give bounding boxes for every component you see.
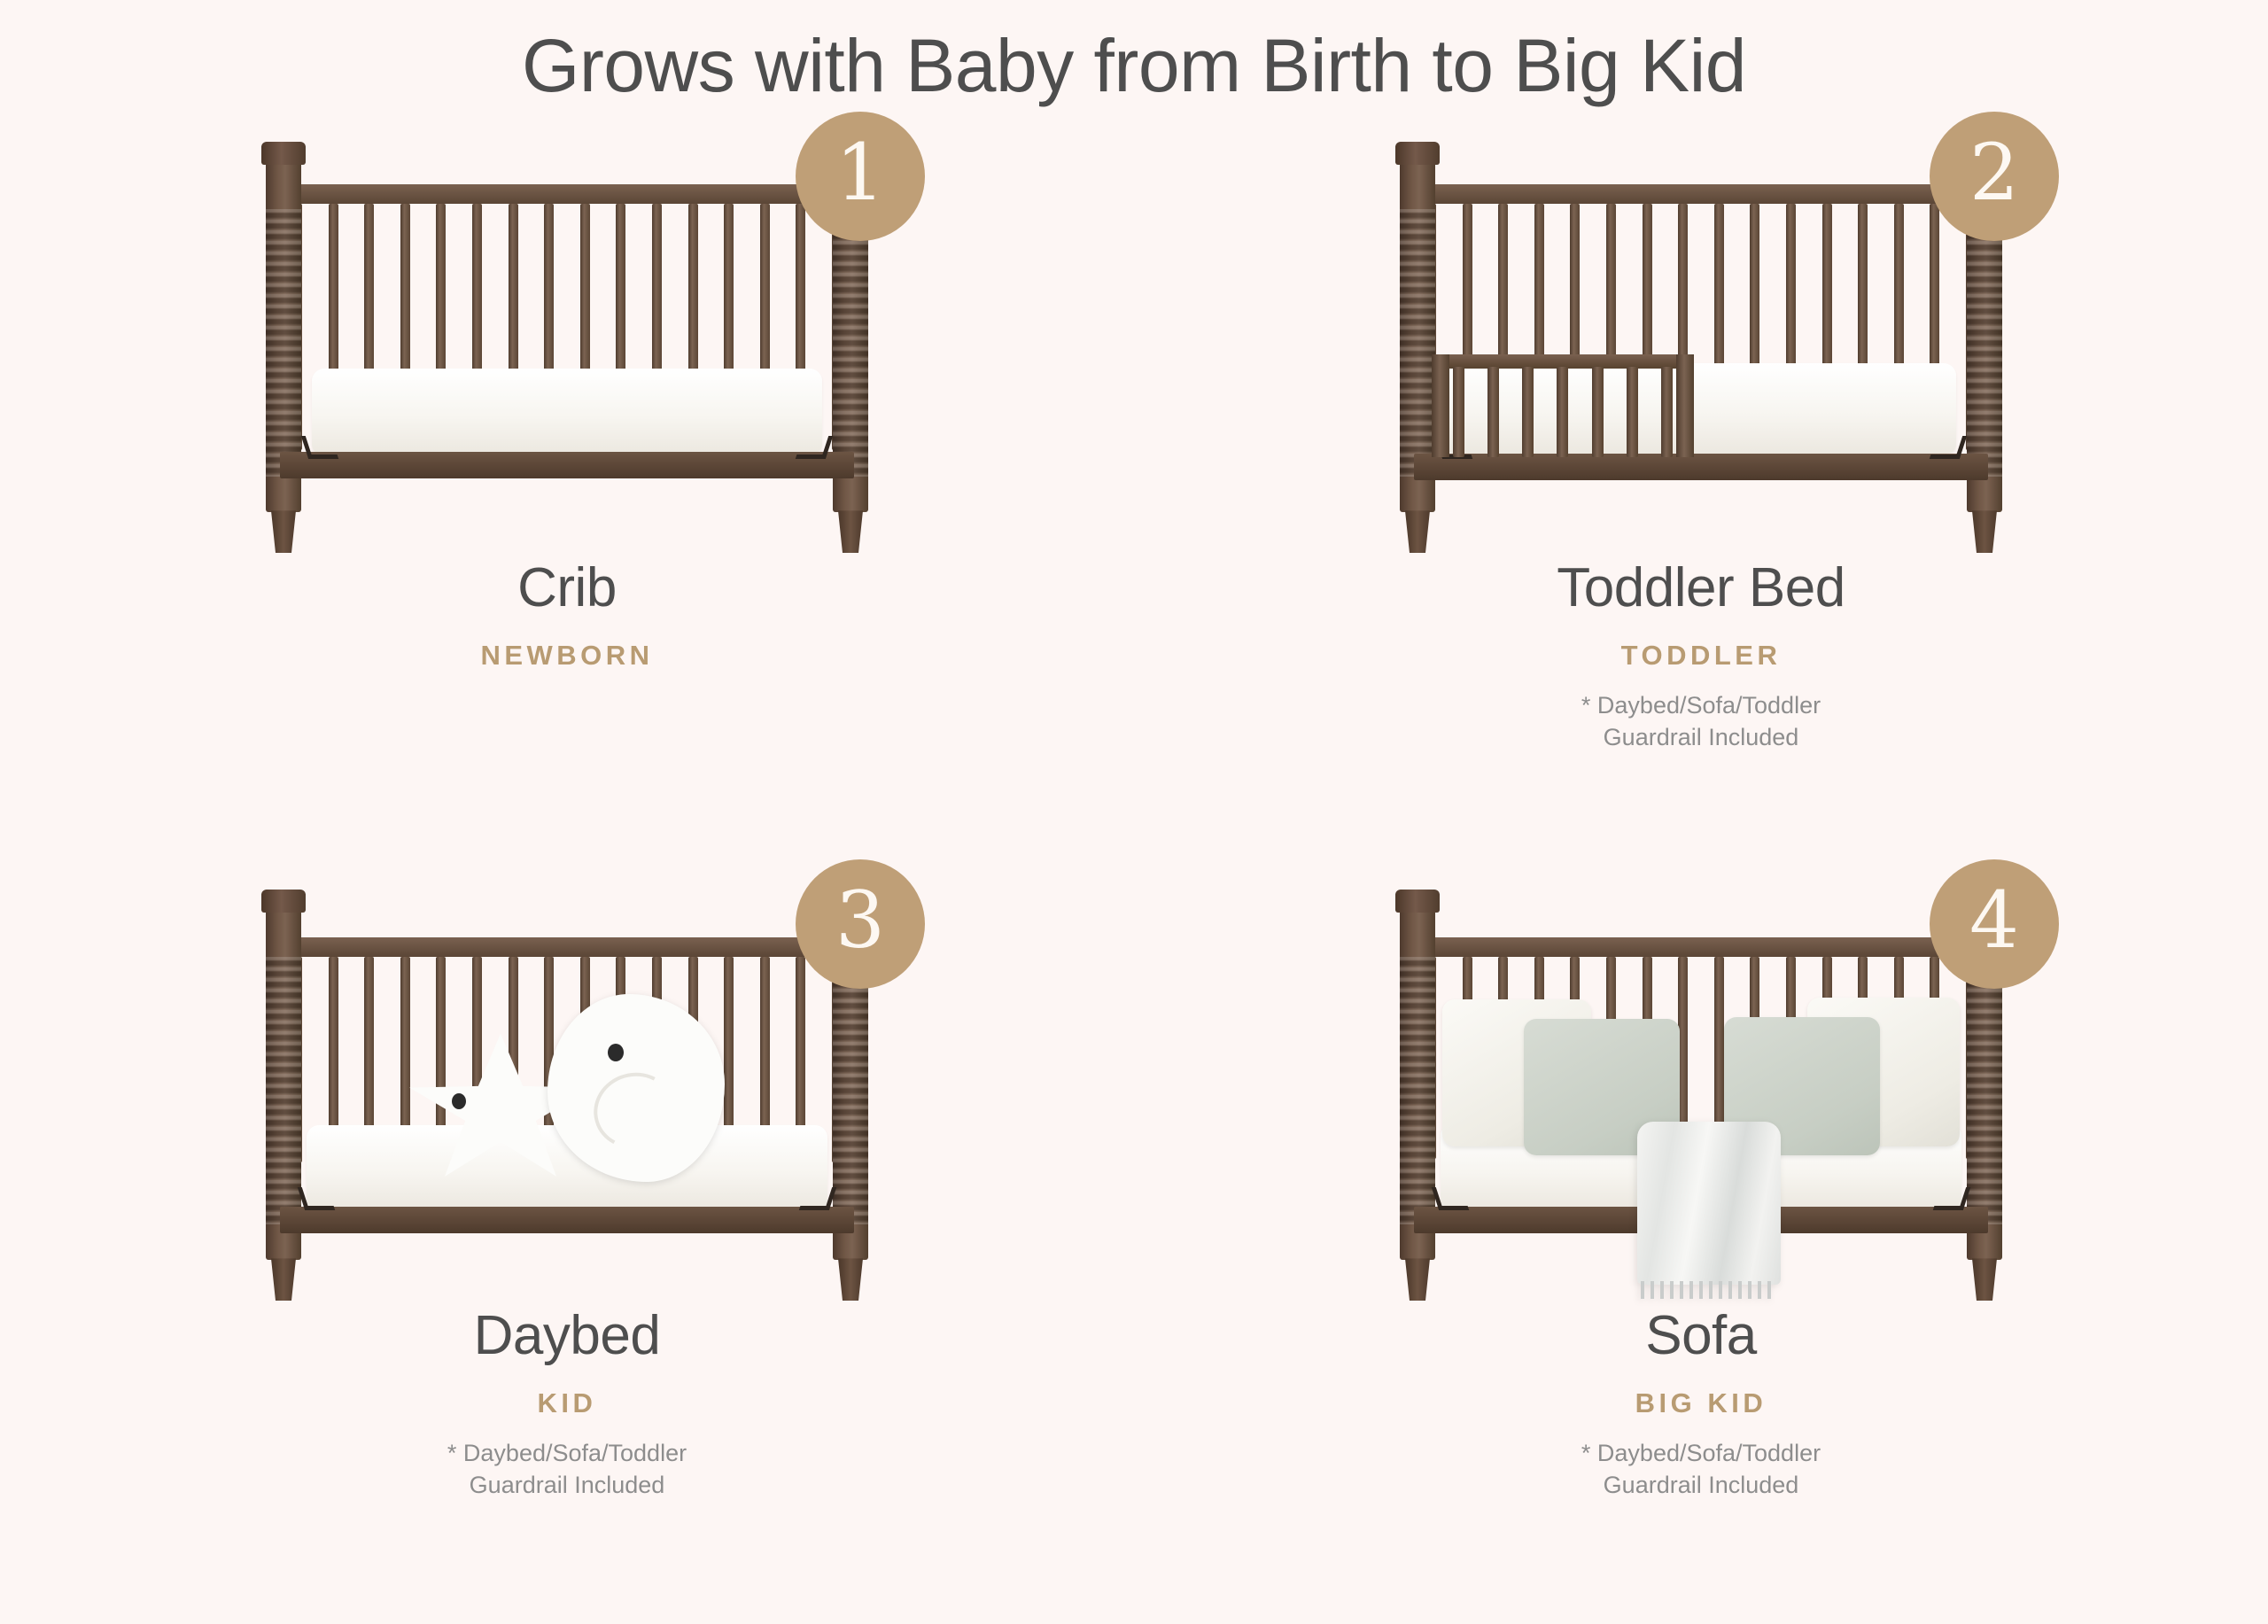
post-finial	[1395, 890, 1440, 913]
stage-note: * Daybed/Sofa/Toddler Guardrail Included	[1557, 689, 1845, 754]
stage-name: Daybed	[447, 1304, 687, 1367]
daybed-illustration: 3	[230, 882, 904, 1299]
stage-number-badge-1: 1	[796, 112, 925, 241]
post-bead-detail	[1400, 957, 1435, 1224]
stage-note: * Daybed/Sofa/Toddler Guardrail Included	[447, 1437, 687, 1502]
stage-panel-sofa: 4	[1134, 870, 2268, 1579]
daybed-furniture	[266, 902, 868, 1299]
throw-blanket	[1637, 1122, 1781, 1285]
stage-panel-crib: 1	[0, 126, 1134, 870]
post-foot	[838, 1258, 863, 1301]
stage-age-label: NEWBORN	[480, 640, 653, 672]
daybed-caption: Daybed KID * Daybed/Sofa/Toddler Guardra…	[447, 1304, 687, 1501]
stage-panel-toddler-bed: 2	[1134, 126, 2268, 870]
pillow-eye	[608, 1044, 624, 1061]
toddler-guardrail	[1432, 354, 1694, 457]
stage-note: * Daybed/Sofa/Toddler Guardrail Included	[1581, 1437, 1821, 1502]
bed-base-rail	[1414, 454, 1988, 480]
crib-caption: Crib NEWBORN	[480, 556, 653, 688]
stage-number-badge-4: 4	[1930, 859, 2059, 989]
guardrail-end-post	[1432, 354, 1449, 457]
crib-top-rail	[289, 184, 845, 204]
sofa-top-rail	[1423, 937, 1979, 957]
badge-number: 4	[1969, 882, 2019, 960]
stage-name: Crib	[480, 556, 653, 619]
post-foot	[1405, 1258, 1430, 1301]
throw-fringe	[1641, 1281, 1777, 1299]
post-bead-detail	[833, 209, 868, 477]
post-bead-detail	[1967, 957, 2002, 1224]
post-finial	[1395, 142, 1440, 165]
post-finial	[261, 890, 306, 913]
bed-top-rail	[1423, 184, 1979, 204]
crib-base-rail	[280, 452, 854, 478]
pillow-eye	[452, 1093, 466, 1109]
stage-name: Sofa	[1581, 1304, 1821, 1367]
guardrail-slat	[1627, 367, 1638, 457]
guardrail-end-post	[1676, 354, 1694, 457]
guardrail-slats	[1453, 367, 1673, 457]
guardrail-slat	[1592, 367, 1604, 457]
post-bead-detail	[266, 209, 301, 477]
stage-panel-daybed: 3	[0, 870, 1134, 1579]
post-foot	[271, 1258, 296, 1301]
post-foot	[1972, 510, 1997, 553]
post-foot	[838, 510, 863, 553]
stage-name: Toddler Bed	[1557, 556, 1845, 619]
badge-number: 2	[1969, 134, 2019, 212]
stage-number-badge-2: 2	[1930, 112, 2059, 241]
stage-number-badge-3: 3	[796, 859, 925, 989]
stage-age-label: BIG KID	[1581, 1387, 1821, 1419]
post-bead-detail	[266, 957, 301, 1224]
post-foot	[271, 510, 296, 553]
guardrail-slat	[1487, 367, 1499, 457]
toddler-bed-illustration: 2	[1364, 135, 2038, 551]
sofa-furniture	[1400, 902, 2002, 1299]
page-title: Grows with Baby from Birth to Big Kid	[0, 0, 2268, 106]
crib-furniture	[266, 154, 868, 551]
stage-age-label: TODDLER	[1557, 640, 1845, 672]
post-foot	[1972, 1258, 1997, 1301]
toddler-bed-caption: Toddler Bed TODDLER * Daybed/Sofa/Toddle…	[1557, 556, 1845, 753]
sofa-caption: Sofa BIG KID * Daybed/Sofa/Toddler Guard…	[1581, 1304, 1821, 1501]
crib-illustration: 1	[230, 135, 904, 551]
sofa-illustration: 4	[1364, 882, 2038, 1299]
pillow-wing-detail	[585, 1063, 684, 1158]
daybed-base-rail	[280, 1207, 854, 1233]
post-bead-detail	[1967, 209, 2002, 477]
guardrail-slat	[1453, 367, 1464, 457]
badge-number: 3	[835, 882, 885, 960]
crib-mattress	[312, 369, 822, 454]
daybed-top-rail	[289, 937, 845, 957]
toddler-bed-furniture	[1400, 154, 2002, 551]
conversion-stages-grid: 1	[0, 126, 2268, 1579]
post-finial	[261, 142, 306, 165]
guardrail-slat	[1661, 367, 1673, 457]
post-bead-detail	[833, 957, 868, 1224]
post-bead-detail	[1400, 209, 1435, 477]
guardrail-slat	[1557, 367, 1568, 457]
stage-age-label: KID	[447, 1387, 687, 1419]
guardrail-slat	[1522, 367, 1534, 457]
post-foot	[1405, 510, 1430, 553]
badge-number: 1	[835, 134, 885, 212]
